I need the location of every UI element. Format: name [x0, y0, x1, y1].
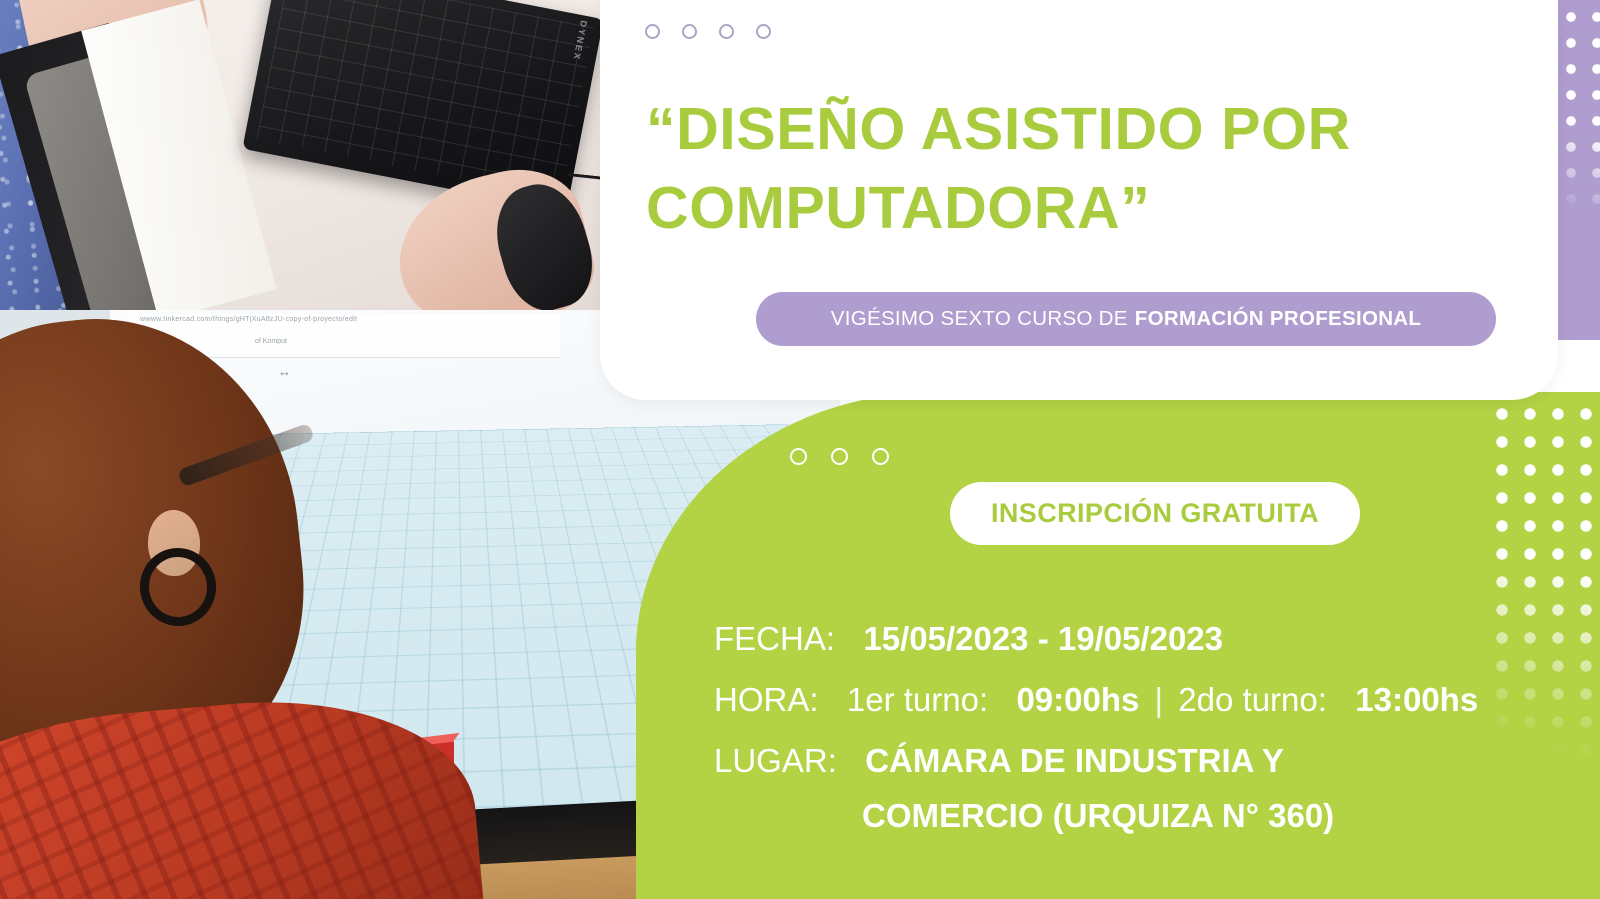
- hora-separator: |: [1149, 683, 1170, 716]
- detail-row-hora: HORA: 1er turno: 09:00hs | 2do turno: 13…: [714, 683, 1574, 716]
- hora-turno2-label: 2do turno:: [1178, 681, 1327, 718]
- hora-turno2-value: 13:00hs: [1355, 681, 1478, 718]
- photo-keyboard-hands: DYNEX: [0, 0, 624, 310]
- event-details: FECHA: 15/05/2023 - 19/05/2023 HORA: 1er…: [714, 622, 1574, 860]
- fecha-value: 15/05/2023 - 19/05/2023: [863, 620, 1223, 657]
- course-subtitle-badge: VIGÉSIMO SEXTO CURSO DE FORMACIÓN PROFES…: [756, 292, 1496, 346]
- hora-turno1-label: 1er turno:: [847, 681, 988, 718]
- subtitle-prefix: VIGÉSIMO SEXTO CURSO DE: [831, 307, 1128, 331]
- circle-outline-icon: [719, 24, 734, 39]
- subtitle-bold: FORMACIÓN PROFESIONAL: [1135, 307, 1421, 331]
- flyer-canvas: DYNEX wwww.tinkercad.com/things/gHTjXuA8…: [0, 0, 1600, 899]
- detail-row-fecha: FECHA: 15/05/2023 - 19/05/2023: [714, 622, 1574, 655]
- lugar-value-line1: CÁMARA DE INDUSTRIA Y: [865, 742, 1284, 779]
- undo-redo-icon: ↔: [278, 364, 291, 379]
- hora-label: HORA:: [714, 681, 819, 718]
- title-card: “DISEÑO ASISTIDO POR COMPUTADORA” VIGÉSI…: [600, 0, 1558, 400]
- card-dot-decoration: [645, 24, 771, 39]
- cad-ui-subtext: of Komput: [255, 338, 287, 345]
- circle-outline-icon: [756, 24, 771, 39]
- circle-outline-icon: [831, 448, 848, 465]
- fecha-label: FECHA:: [714, 620, 835, 657]
- lugar-value-line2: COMERCIO (URQUIZA N° 360): [862, 799, 1574, 832]
- free-registration-badge[interactable]: INSCRIPCIÓN GRATUITA: [950, 482, 1360, 545]
- detail-row-lugar: LUGAR: CÁMARA DE INDUSTRIA Y COMERCIO (U…: [714, 744, 1574, 832]
- cad-ui-text: wwww.tinkercad.com/things/gHTjXuA8zJU-co…: [140, 316, 357, 323]
- circle-outline-icon: [645, 24, 660, 39]
- circle-outline-icon: [682, 24, 697, 39]
- hora-turno1-value: 09:00hs: [1016, 681, 1139, 718]
- circle-outline-icon: [872, 448, 889, 465]
- page-title: “DISEÑO ASISTIDO POR COMPUTADORA”: [646, 90, 1446, 248]
- panel-dot-decoration: [790, 448, 889, 465]
- circle-outline-icon: [790, 448, 807, 465]
- lugar-label: LUGAR:: [714, 742, 837, 779]
